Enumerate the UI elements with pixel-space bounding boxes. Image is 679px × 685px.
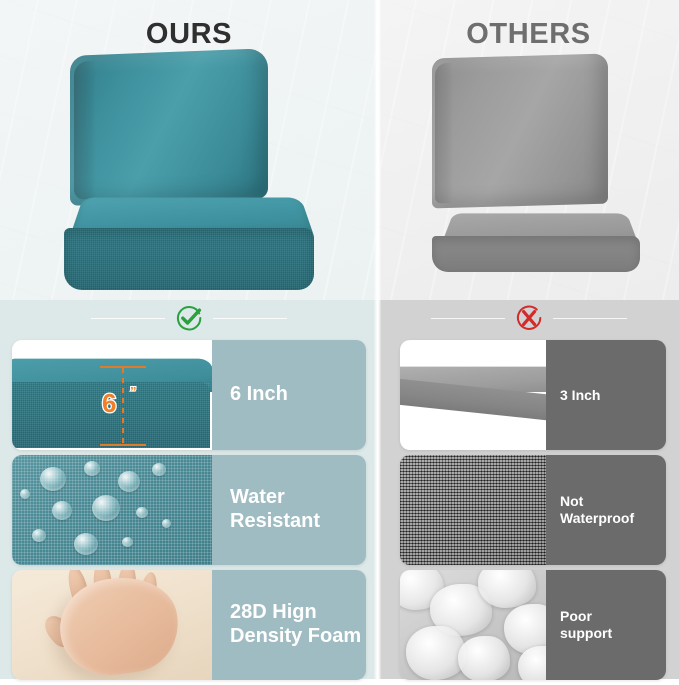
seat-cushion-gray <box>418 196 644 282</box>
dimension-value: 6 <box>102 388 115 419</box>
image-loose-fiberfill <box>400 570 546 680</box>
water-droplet <box>122 537 133 547</box>
feature-rows-others: 3 Inch NotWaterproof Poorsupport <box>400 340 666 685</box>
caption-text: 6 Inch <box>230 383 288 407</box>
dimension-line <box>122 368 124 444</box>
water-droplet <box>118 471 140 492</box>
water-droplet <box>136 507 148 518</box>
heading-ours: OURS <box>0 18 378 51</box>
dimension-marker-6in: 6 ” <box>108 366 138 446</box>
column-divider <box>374 0 381 679</box>
verdict-others <box>378 298 679 338</box>
heading-others: OTHERS <box>378 18 679 51</box>
water-droplet <box>20 489 30 499</box>
feature-row-foam-ours: 28D HignDensity Foam <box>12 570 366 680</box>
fiber-clump <box>458 636 510 680</box>
fiber-clump <box>478 570 536 608</box>
rule-left <box>431 318 505 319</box>
red-x-circle-icon <box>515 304 543 332</box>
hero-image-others <box>412 56 650 288</box>
caption-panel: WaterResistant <box>212 455 366 565</box>
caption-panel: 6 Inch <box>212 340 366 450</box>
rule-right <box>213 318 287 319</box>
caption-text: 28D HignDensity Foam <box>230 601 361 648</box>
comparison-infographic: OURS OTHERS <box>0 0 679 679</box>
image-mesh-fabric <box>400 455 546 565</box>
back-cushion-gray <box>432 54 608 209</box>
image-cushion-thickness: 6 ” <box>12 340 212 450</box>
caption-text: Poorsupport <box>560 608 612 641</box>
caption-panel: Poorsupport <box>546 570 666 680</box>
caption-text: 3 Inch <box>560 387 600 404</box>
feature-row-thickness-ours: 6 ” 6 Inch <box>12 340 366 450</box>
rule-right <box>553 318 627 319</box>
water-droplet <box>74 533 98 555</box>
feature-row-water-ours: WaterResistant <box>12 455 366 565</box>
water-droplet <box>84 461 100 476</box>
verdict-ours <box>0 298 378 338</box>
fiber-clump <box>406 626 466 680</box>
caption-text: NotWaterproof <box>560 493 634 526</box>
green-check-circle-icon <box>175 304 203 332</box>
water-droplet <box>52 501 72 520</box>
dimension-unit: ” <box>130 384 137 399</box>
caption-panel: 3 Inch <box>546 340 666 450</box>
rule-left <box>91 318 165 319</box>
image-hand-on-foam <box>12 570 212 680</box>
water-droplet <box>152 463 166 476</box>
caption-text: WaterResistant <box>230 486 320 533</box>
feature-rows-ours: 6 ” 6 Inch <box>12 340 366 685</box>
image-water-droplets <box>12 455 212 565</box>
back-cushion-teal <box>70 48 268 206</box>
feature-row-support-others: Poorsupport <box>400 570 666 680</box>
water-droplet <box>32 529 46 542</box>
water-droplet <box>162 519 171 528</box>
hero-image-ours <box>48 52 326 292</box>
dimension-cap-bottom <box>100 444 146 446</box>
seat-front-face <box>64 228 314 290</box>
feature-row-thickness-others: 3 Inch <box>400 340 666 450</box>
water-droplet <box>40 467 66 491</box>
caption-panel: NotWaterproof <box>546 455 666 565</box>
feature-row-water-others: NotWaterproof <box>400 455 666 565</box>
image-thin-cushion <box>400 340 546 450</box>
caption-panel: 28D HignDensity Foam <box>212 570 366 680</box>
seat-front-face <box>432 236 640 272</box>
seat-cushion-teal <box>52 184 314 292</box>
water-droplet <box>92 495 120 521</box>
